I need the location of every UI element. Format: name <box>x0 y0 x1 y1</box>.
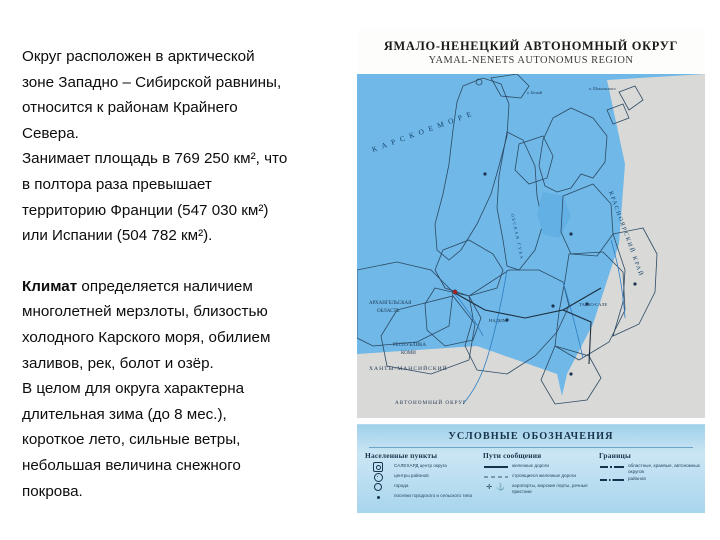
svg-text:о. Белый: о. Белый <box>527 90 543 95</box>
railway-building-line-icon <box>483 473 509 481</box>
svg-text:КОМИ: КОМИ <box>401 351 416 356</box>
region-border-icon <box>599 463 625 471</box>
map-canvas: .lbl{font-family:"Liberation Serif", ser… <box>357 74 705 418</box>
settlement-capital-icon <box>365 463 391 471</box>
legend-column-header: Границы <box>599 451 705 460</box>
svg-text:АРХАНГЕЛЬСКАЯ: АРХАНГЕЛЬСКАЯ <box>369 301 412 306</box>
legend-column-borders: Границы областные, краевые, автономных о… <box>599 451 705 511</box>
text-line: Округ расположен в арктической <box>22 44 352 70</box>
legend-panel: УСЛОВНЫЕ ОБОЗНАЧЕНИЯ Населенные пункты С… <box>357 418 705 513</box>
legend-item-label: города <box>394 483 479 489</box>
legend-item: железные дороги <box>483 463 595 471</box>
text-line: многолетней мерзлоты, близостью <box>22 299 352 325</box>
text-line: небольшая величина снежного <box>22 453 352 479</box>
legend-title: УСЛОВНЫЕ ОБОЗНАЧЕНИЯ <box>357 431 705 442</box>
legend-item-label: центры районов <box>394 473 479 479</box>
legend-item-label: поселки городского и сельского типа <box>394 493 479 499</box>
legend-item: поселки городского и сельского типа <box>365 493 479 501</box>
text-line: В целом для округа характерна <box>22 376 352 402</box>
slide-canvas: Округ расположен в арктической зоне Запа… <box>0 0 720 540</box>
text-line: или Испании (504 782 км²). <box>22 223 352 249</box>
text-line: территорию Франции (547 030 км²) <box>22 198 352 224</box>
svg-text:о. Шокальского: о. Шокальского <box>589 86 616 91</box>
legend-column-header: Населенные пункты <box>365 451 479 460</box>
legend-item: строящиеся железные дороги <box>483 473 595 481</box>
svg-text:АВТОНОМНЫЙ ОКРУГ: АВТОНОМНЫЙ ОКРУГ <box>395 398 467 406</box>
map-title-russian: ЯМАЛО-НЕНЕЦКИЙ АВТОНОМНЫЙ ОКРУГ <box>357 29 705 54</box>
legend-column-settlements: Населенные пункты САЛЕХАРД центр округа … <box>365 451 483 511</box>
paragraph-spacer <box>22 249 352 274</box>
legend-item-label: аэропорты, морские порты, речные пристан… <box>512 483 595 494</box>
settlement-town-icon <box>365 483 391 491</box>
text-line: заливов, рек, болот и озёр. <box>22 351 352 377</box>
legend-item-label: районов <box>628 476 705 482</box>
legend-item: САЛЕХАРД центр округа <box>365 463 479 471</box>
text-line: длительная зима (до 8 мес.), <box>22 402 352 428</box>
paragraph-climate: Климат определяется наличием многолетней… <box>22 274 352 504</box>
svg-text:НАДЫМ: НАДЫМ <box>489 318 507 323</box>
text-line: зоне Западно – Сибирской равнины, <box>22 70 352 96</box>
legend-divider <box>369 447 693 448</box>
legend-columns: Населенные пункты САЛЕХАРД центр округа … <box>365 451 699 511</box>
settlement-district-icon <box>365 473 391 481</box>
legend-item-label: областные, краевые, автономных округов <box>628 463 705 474</box>
legend-item: районов <box>599 476 705 484</box>
text-line: относится к районам Крайнего <box>22 95 352 121</box>
district-border-icon <box>599 476 625 484</box>
legend-item: ✛ ⚓ аэропорты, морские порты, речные при… <box>483 483 595 494</box>
legend-item: города <box>365 483 479 491</box>
legend: УСЛОВНЫЕ ОБОЗНАЧЕНИЯ Населенные пункты С… <box>357 418 705 513</box>
legend-item-label: САЛЕХАРД центр округа <box>394 463 479 469</box>
map-title-english: YAMAL-NENETS AUTONOMUS REGION <box>357 55 705 66</box>
map-title-band: ЯМАЛО-НЕНЕЦКИЙ АВТОНОМНЫЙ ОКРУГ YAMAL-NE… <box>357 29 705 74</box>
legend-item: областные, краевые, автономных округов <box>599 463 705 474</box>
text-column: Округ расположен в арктической зоне Запа… <box>22 44 352 504</box>
legend-item-label: строящиеся железные дороги <box>512 473 595 479</box>
legend-item: центры районов <box>365 473 479 481</box>
text-line: короткое лето, сильные ветры, <box>22 427 352 453</box>
text-line: холодного Карского моря, обилием <box>22 325 352 351</box>
svg-text:РЕСПУБЛИКА: РЕСПУБЛИКА <box>393 343 426 348</box>
legend-column-routes: Пути сообщения железные дороги строящиес… <box>483 451 599 511</box>
text-line: в полтора раза превышает <box>22 172 352 198</box>
text-line: Севера. <box>22 121 352 147</box>
svg-text:ТАРКО-САЛЕ: ТАРКО-САЛЕ <box>579 302 608 307</box>
text-line: покрова. <box>22 479 352 505</box>
text-line-climate-lead: Климат определяется наличием <box>22 274 352 300</box>
text-line: Занимает площадь в 769 250 км², что <box>22 146 352 172</box>
paragraph-location: Округ расположен в арктической зоне Запа… <box>22 44 352 249</box>
legend-item-label: железные дороги <box>512 463 595 469</box>
settlement-village-icon <box>365 493 391 501</box>
railway-line-icon <box>483 463 509 471</box>
legend-column-header: Пути сообщения <box>483 451 595 460</box>
climate-lead-rest: определяется наличием <box>77 278 253 295</box>
map-panel: ЯМАЛО-НЕНЕЦКИЙ АВТОНОМНЫЙ ОКРУГ YAMAL-NE… <box>357 29 705 513</box>
climate-keyword: Климат <box>22 278 77 295</box>
airport-icon: ✛ ⚓ <box>483 483 509 491</box>
svg-text:ХАНТЫ-МАНСИЙСКИЙ: ХАНТЫ-МАНСИЙСКИЙ <box>369 364 448 372</box>
